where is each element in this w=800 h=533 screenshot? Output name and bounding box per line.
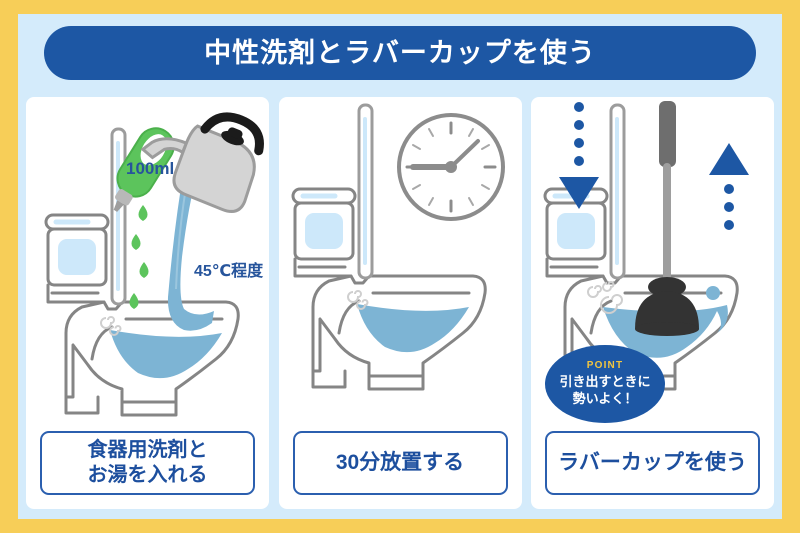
- page-title: 中性洗剤とラバーカップを使う: [204, 40, 596, 67]
- wall-clock-icon: [399, 115, 503, 219]
- step-3-caption: ラバーカップを使う: [545, 431, 760, 495]
- step-panel-2: 30分放置する: [279, 97, 522, 509]
- flush-pipe: [112, 129, 125, 304]
- infographic-frame: 中性洗剤とラバーカップを使う: [0, 0, 800, 533]
- step-1-caption: 食器用洗剤と お湯を入れる: [40, 431, 255, 495]
- step-panel-3: POINT 引き出すときに 勢いよく！ ラバーカップを使う: [531, 97, 774, 509]
- point-badge-kicker: POINT: [587, 361, 624, 371]
- step-2-illustration: [279, 97, 522, 427]
- infographic-canvas: 中性洗剤とラバーカップを使う: [18, 14, 782, 519]
- flush-pipe: [359, 105, 372, 278]
- steps-row: 100ml 45℃程度 食器用洗剤と お湯を入れる: [26, 97, 774, 517]
- point-badge: POINT 引き出すときに 勢いよく！: [545, 345, 665, 423]
- step-2-caption-text: 30分放置する: [336, 450, 464, 476]
- temperature-label: 45℃程度: [194, 257, 263, 281]
- step-panel-1: 100ml 45℃程度 食器用洗剤と お湯を入れる: [26, 97, 269, 509]
- kettle-icon: [133, 97, 269, 216]
- arrow-up-icon: [709, 143, 749, 230]
- water-drop-icon: [130, 205, 149, 309]
- plunger-icon: [635, 101, 699, 336]
- title-banner: 中性洗剤とラバーカップを使う: [44, 26, 756, 80]
- amount-label: 100ml: [126, 159, 174, 179]
- step-3-caption-text: ラバーカップを使う: [558, 450, 747, 476]
- point-badge-text: 引き出すときに 勢いよく！: [559, 374, 650, 407]
- step-1-caption-text: 食器用洗剤と お湯を入れる: [88, 438, 208, 488]
- step-1-illustration: 100ml 45℃程度: [26, 97, 269, 427]
- step-2-caption: 30分放置する: [293, 431, 508, 495]
- flush-pipe: [611, 105, 624, 278]
